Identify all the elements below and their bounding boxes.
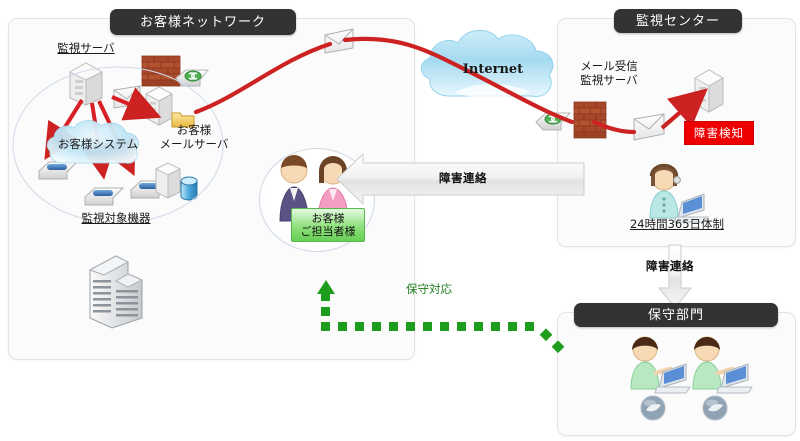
- banner-monitoring-center: 監視センター: [614, 9, 742, 33]
- flow-label-fault-report-maintenance: 障害連絡: [646, 258, 694, 274]
- label-customer-system: お客様システム: [50, 138, 146, 151]
- label-24h-operation: 24時間365日体制: [619, 218, 735, 231]
- customer-contact-label-line1: お客様: [312, 212, 345, 225]
- mail-envelope-icon: [112, 84, 142, 110]
- flow-label-fault-report-customer: 障害連絡: [439, 170, 487, 186]
- label-monitoring-server: 監視サーバ: [46, 42, 126, 55]
- fault-detected-badge: 障害検知: [684, 121, 754, 145]
- customer-contact-label: お客様 ご担当者様: [291, 208, 365, 242]
- database-cylinder-icon: [178, 176, 200, 202]
- mail-receive-monitoring-server-icon: [690, 65, 728, 115]
- label-mail-receive-monitoring-server: メール受信 監視サーバ: [563, 60, 655, 87]
- center-router-icon: [532, 108, 574, 136]
- center-mail-envelope-icon: [632, 112, 666, 142]
- support-globe-icon-1: [639, 394, 667, 422]
- operator-icon: [638, 162, 710, 224]
- label-customer-mail-server-line1: お客様: [152, 124, 236, 138]
- maintenance-engineer-icon-2: [682, 333, 754, 395]
- label-customer-mail-server: お客様 メールサーバ: [152, 124, 236, 151]
- monitored-device-icon-1: [36, 158, 80, 184]
- label-monitored-devices: 監視対象機器: [66, 212, 166, 225]
- label-mail-receive-line2: 監視サーバ: [563, 74, 655, 88]
- support-globe-icon-2: [701, 394, 729, 422]
- monitored-device-icon-2: [82, 184, 126, 210]
- router-icon: [172, 66, 212, 92]
- monitoring-server-icon: [64, 58, 108, 106]
- label-customer-mail-server-line2: メールサーバ: [152, 138, 236, 152]
- label-mail-receive-line1: メール受信: [563, 60, 655, 74]
- flow-label-maintenance-response: 保守対応: [406, 281, 452, 297]
- mail-envelope-transit-icon: [323, 27, 355, 55]
- fault-report-down-arrow-shape: [659, 245, 691, 308]
- banner-maintenance-dept: 保守部門: [574, 303, 778, 327]
- label-internet: Internet: [443, 63, 543, 76]
- banner-customer-network: お客様ネットワーク: [110, 9, 296, 35]
- diagram-canvas: お客様 ご担当者様: [0, 0, 800, 441]
- building-icon: [82, 248, 162, 330]
- center-firewall-icon: [572, 100, 608, 142]
- customer-contact-label-line2: ご担当者様: [301, 225, 356, 238]
